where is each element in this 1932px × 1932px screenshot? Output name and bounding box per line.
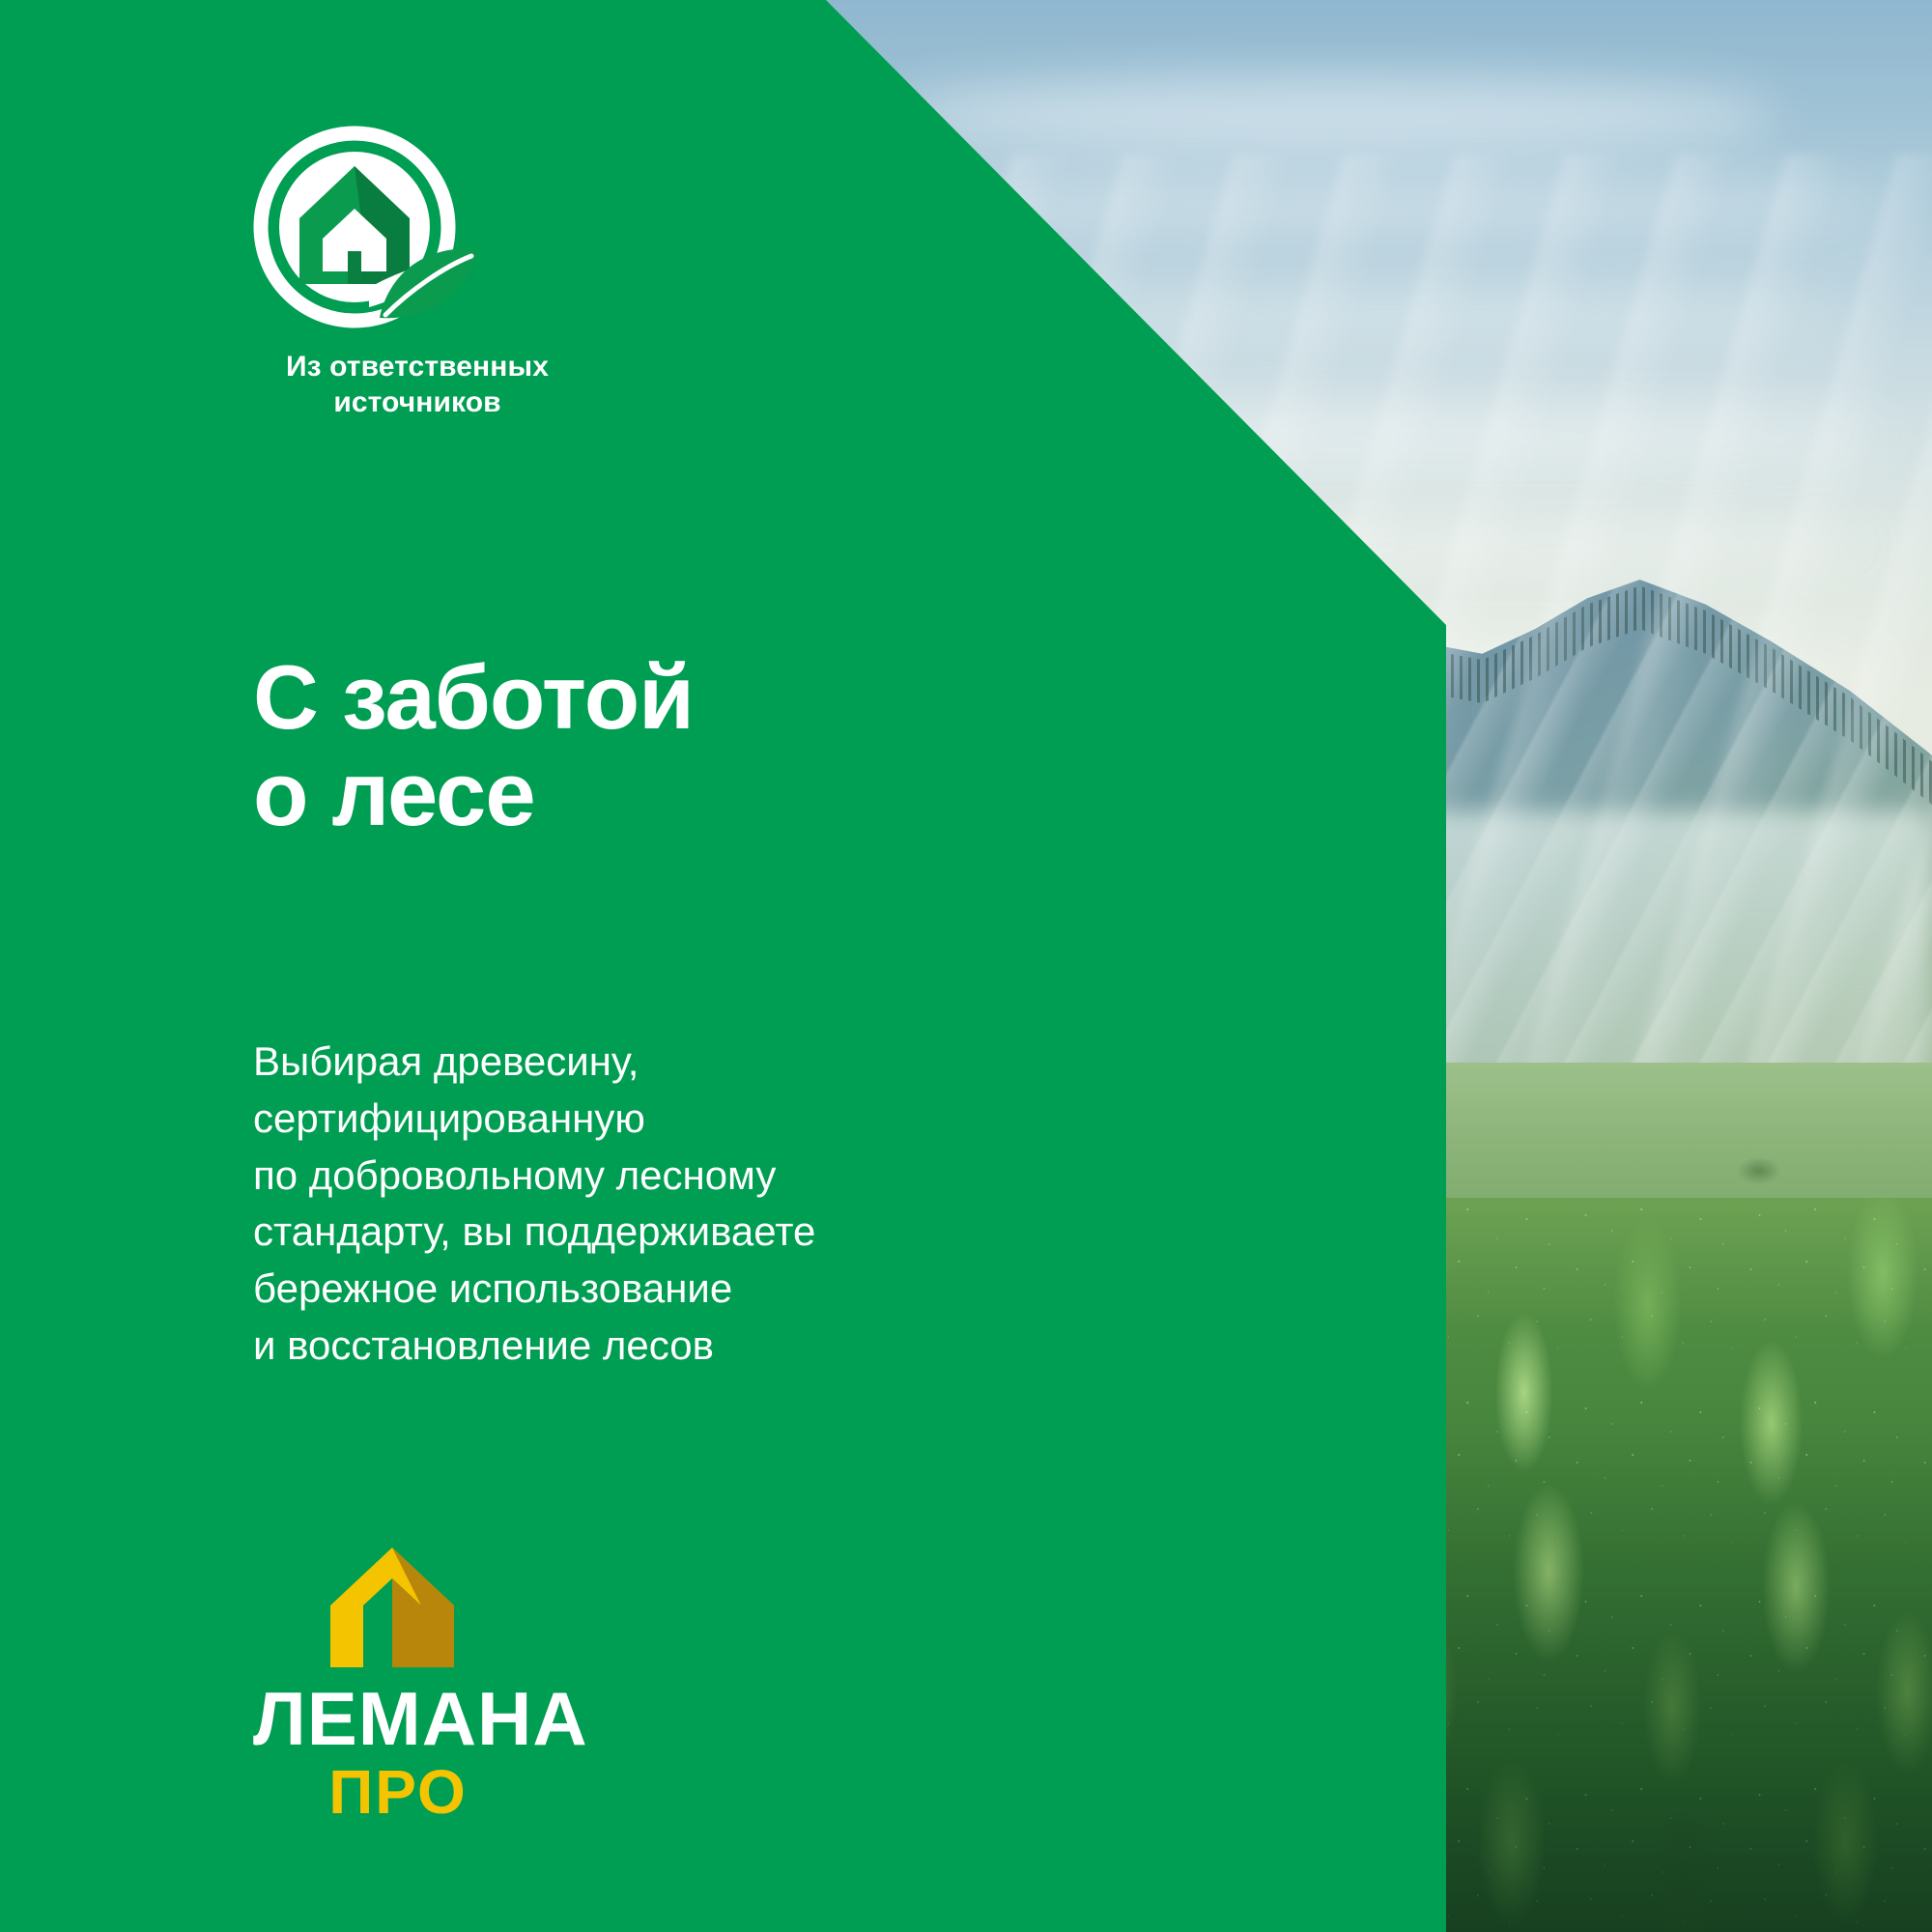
lemana-house-icon [328,1546,456,1669]
eco-mark-caption: Из ответственных источников [253,350,582,420]
poster-canvas: Из ответственных источников С заботой о … [0,0,1932,1932]
house-leaf-circle-eco-badge-icon [253,126,480,330]
lemana-pro-sub-wordmark: ПРО [253,1761,543,1823]
body-paragraph: Выбирая древесину, сертифицированную по … [253,1034,987,1375]
page-title: С заботой о лесе [253,649,694,841]
eco-certification-mark: Из ответственных источников [253,126,582,420]
poster-content: Из ответственных источников С заботой о … [0,0,1932,1932]
lemana-wordmark: ЛЕМАНА [253,1683,582,1755]
lemana-pro-logo: ЛЕМАНА ПРО [253,1546,582,1823]
